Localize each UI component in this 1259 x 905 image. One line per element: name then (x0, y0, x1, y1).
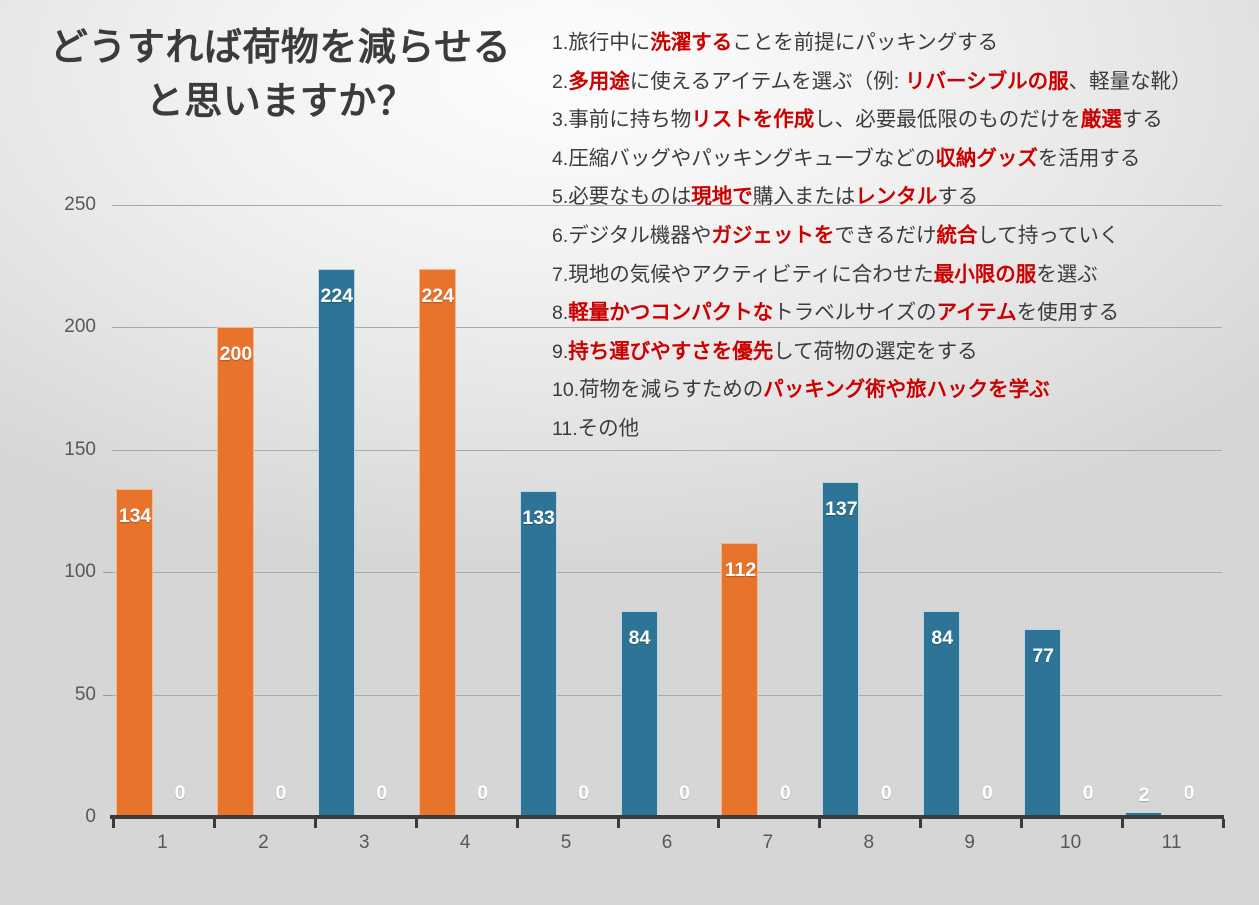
bar-value-label-zero: 0 (1166, 782, 1212, 805)
x-axis-tick-mark (213, 819, 216, 828)
plot-area (112, 205, 1222, 817)
x-axis-tick-label: 8 (818, 832, 920, 854)
y-axis-tick-label: 150 (26, 439, 96, 461)
x-axis-tick-label: 3 (313, 832, 415, 854)
bar-value-label: 2 (1121, 784, 1167, 807)
x-axis-tick-mark (112, 819, 115, 828)
bar-value-label-zero: 0 (561, 782, 607, 805)
bar-value-label-zero: 0 (460, 782, 506, 805)
bar-value-label: 77 (1020, 645, 1066, 668)
bar-value-label: 137 (818, 498, 864, 521)
bar-value-label: 200 (213, 343, 259, 366)
x-axis-line (110, 815, 1224, 819)
x-axis-tick-mark (1121, 819, 1124, 828)
bar-value-label-zero: 0 (157, 782, 203, 805)
gridline (112, 205, 1222, 206)
bar-value-label: 134 (112, 505, 158, 528)
gridline (112, 450, 1222, 451)
x-axis-tick-mark (818, 819, 821, 828)
bar (318, 269, 355, 817)
x-axis-tick-mark (516, 819, 519, 828)
x-axis-tick-mark (919, 819, 922, 828)
bar (822, 482, 859, 817)
x-axis-tick-label: 9 (919, 832, 1021, 854)
bar-value-label-zero: 0 (1065, 782, 1111, 805)
bar-value-label: 133 (516, 507, 562, 530)
x-axis-tick-label: 10 (1020, 832, 1122, 854)
bar (721, 543, 758, 817)
bar (520, 491, 557, 817)
x-axis-tick-mark (1222, 819, 1225, 828)
bar-value-label: 224 (314, 285, 360, 308)
y-axis-tick-label: 200 (26, 316, 96, 338)
bar-value-label: 224 (415, 285, 461, 308)
x-axis-tick-mark (1020, 819, 1023, 828)
bar-value-label-zero: 0 (258, 782, 304, 805)
x-axis-tick-label: 4 (414, 832, 516, 854)
bar (419, 269, 456, 817)
x-axis-tick-label: 2 (212, 832, 314, 854)
y-axis-tick-label: 0 (26, 806, 96, 828)
x-axis-tick-mark (617, 819, 620, 828)
x-axis-tick-label: 11 (1121, 832, 1223, 854)
y-axis-tick-mark (103, 572, 112, 573)
x-axis-tick-label: 7 (717, 832, 819, 854)
bar-chart: 0501001502002501234567891011134200224224… (0, 0, 1259, 905)
bar-value-label-zero: 0 (762, 782, 808, 805)
bar-value-label-zero: 0 (863, 782, 909, 805)
bar-value-label-zero: 0 (359, 782, 405, 805)
gridline (112, 327, 1222, 328)
y-axis-tick-label: 50 (26, 684, 96, 706)
bar (116, 489, 153, 817)
y-axis-tick-label: 250 (26, 194, 96, 216)
bar-value-label: 84 (617, 627, 663, 650)
bar-value-label: 112 (717, 559, 763, 582)
bar-value-label-zero: 0 (662, 782, 708, 805)
x-axis-tick-label: 6 (616, 832, 718, 854)
bar-value-label: 84 (919, 627, 965, 650)
x-axis-tick-mark (717, 819, 720, 828)
bar (217, 327, 254, 817)
bar-value-label-zero: 0 (964, 782, 1010, 805)
y-axis-tick-label: 100 (26, 561, 96, 583)
x-axis-tick-label: 5 (515, 832, 617, 854)
y-axis-tick-mark (103, 695, 112, 696)
gridline (112, 572, 1222, 573)
x-axis-tick-mark (415, 819, 418, 828)
x-axis-tick-mark (314, 819, 317, 828)
x-axis-tick-label: 1 (111, 832, 213, 854)
